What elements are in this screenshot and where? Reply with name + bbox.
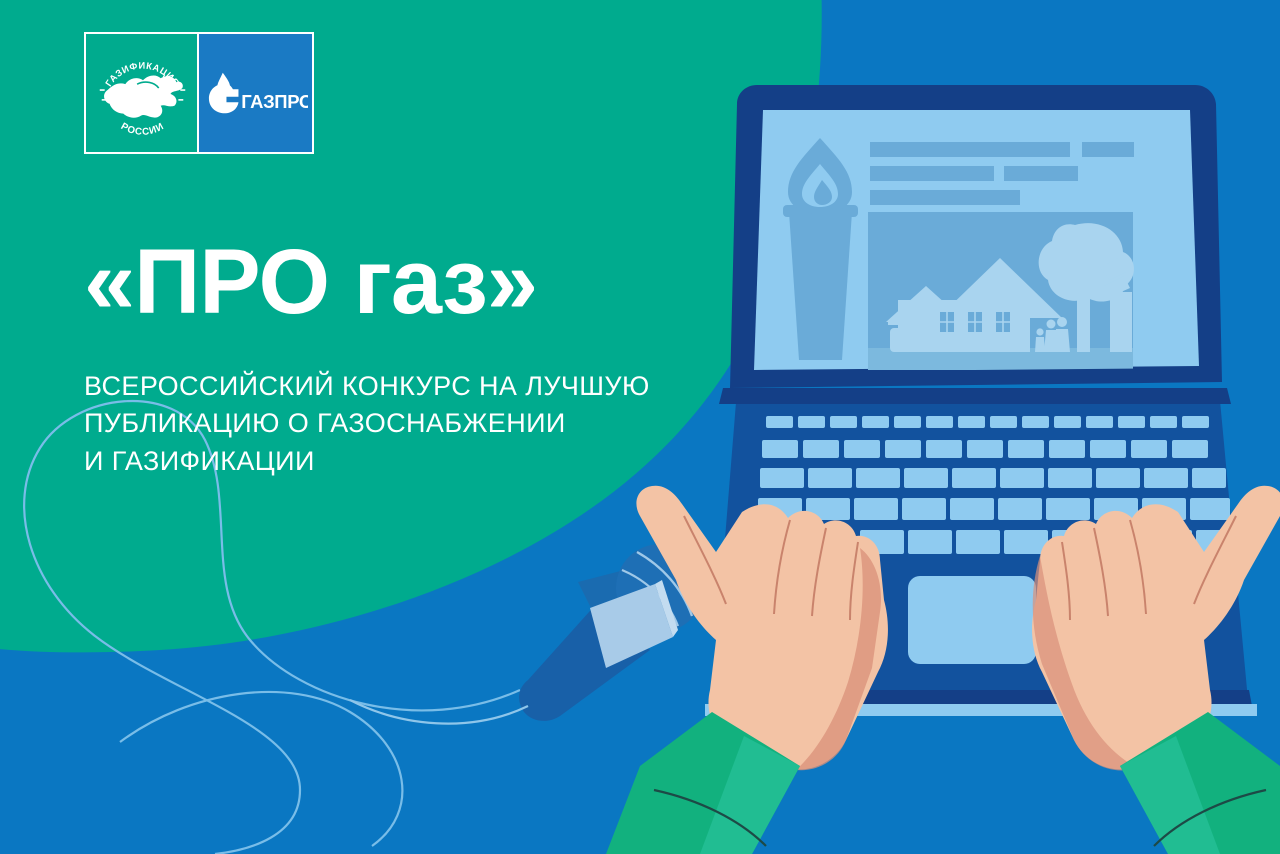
subtitle-line-1: ВСЕРОССИЙСКИЙ КОНКУРС НА ЛУЧШУЮ (84, 368, 650, 405)
gazprom-logo: ГАЗПРОМ (199, 34, 312, 152)
poster-canvas: ГАЗИФИКАЦИЯ РОССИИ ГАЗПРОМ (0, 0, 1280, 854)
gazprom-g-icon (208, 84, 238, 114)
gazprom-logo-svg: ГАЗПРОМ (204, 69, 308, 117)
russia-map-emblem-svg: ГАЗИФИКАЦИЯ РОССИИ (86, 34, 199, 152)
gasification-of-russia-emblem: ГАЗИФИКАЦИЯ РОССИИ (86, 34, 199, 152)
page-subtitle: ВСЕРОССИЙСКИЙ КОНКУРС НА ЛУЧШУЮ ПУБЛИКАЦ… (84, 368, 650, 480)
emblem-text-bottom: РОССИИ (119, 121, 166, 138)
subtitle-line-3: И ГАЗИФИКАЦИИ (84, 443, 650, 480)
right-hand (1032, 486, 1280, 854)
subtitle-line-2: ПУБЛИКАЦИЮ О ГАЗОСНАБЖЕНИИ (84, 405, 650, 442)
gazprom-wordmark: ГАЗПРОМ (241, 91, 308, 112)
left-hand (606, 486, 888, 854)
logo-lockup: ГАЗИФИКАЦИЯ РОССИИ ГАЗПРОМ (84, 32, 314, 154)
page-title: «ПРО газ» (84, 236, 537, 328)
